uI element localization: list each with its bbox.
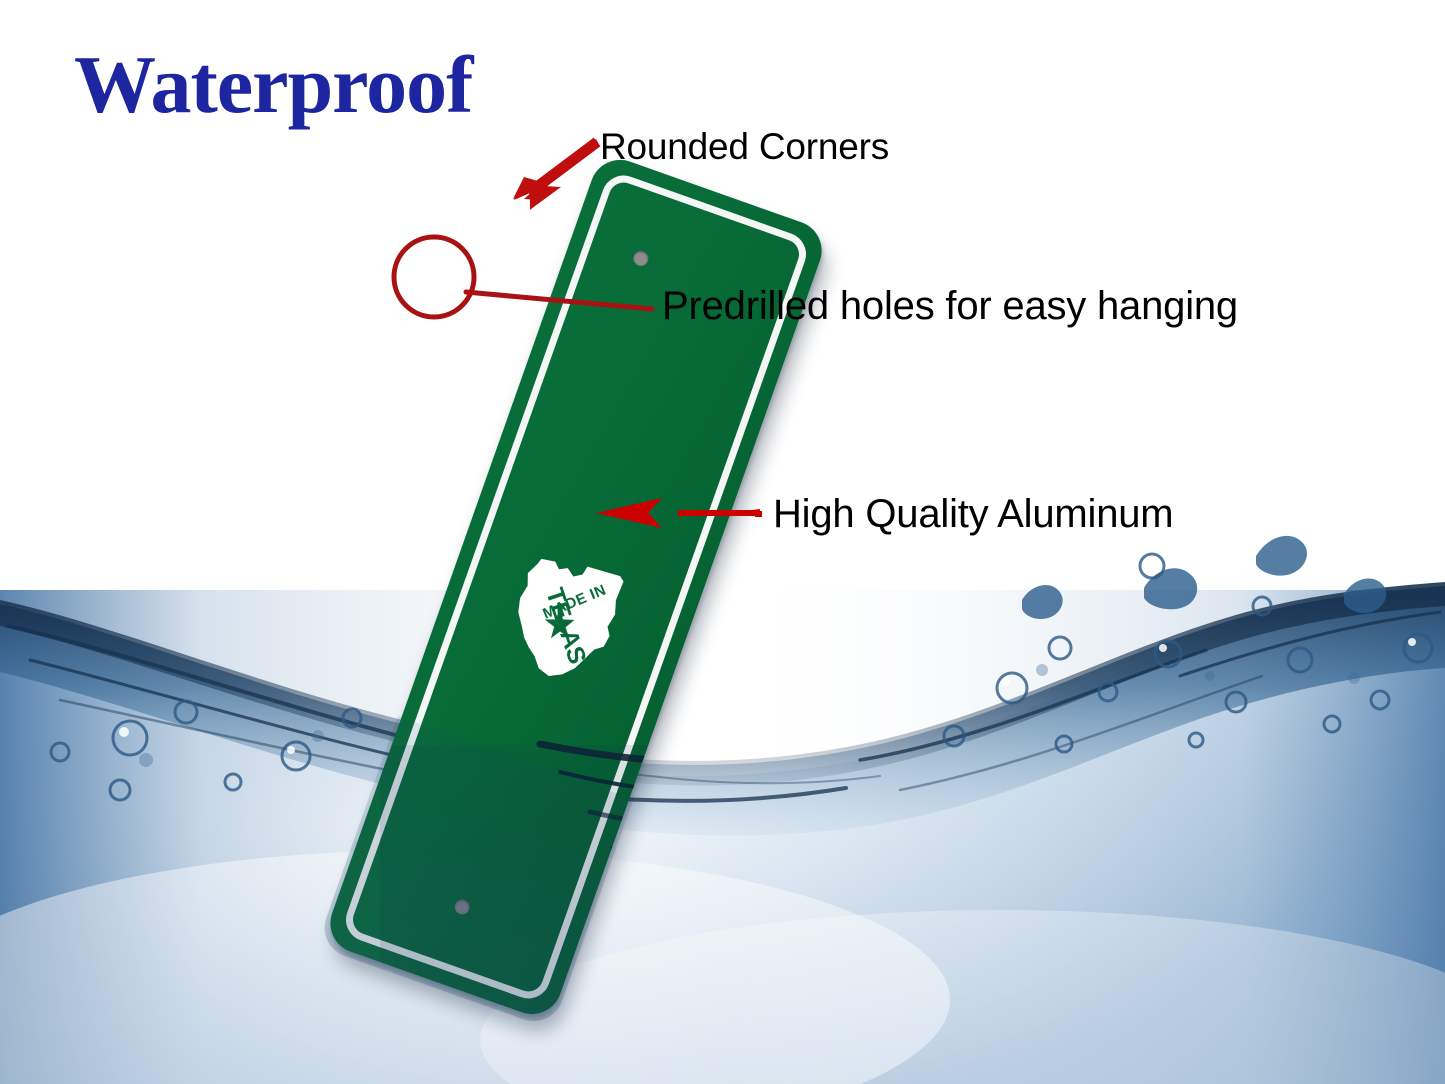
annotation-rounded-corners: Rounded Corners xyxy=(600,126,889,168)
aluminum-street-sign: MADE IN TE AS xyxy=(322,152,830,1023)
annotation-predrilled-holes: Predrilled holes for easy hanging xyxy=(662,284,1238,329)
page-title: Waterproof xyxy=(74,44,472,126)
feature-callout-canvas: MADE IN TE AS xyxy=(0,0,1445,1084)
annotation-high-quality-aluminum: High Quality Aluminum xyxy=(773,492,1173,537)
